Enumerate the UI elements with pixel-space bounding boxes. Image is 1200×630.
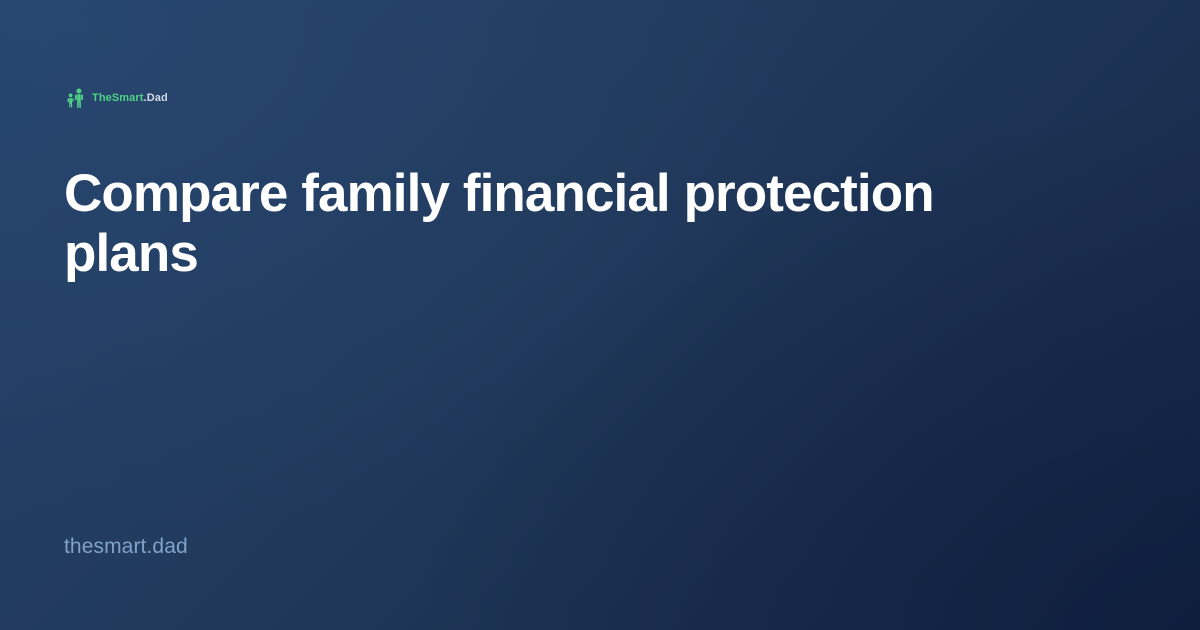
layout-spacer bbox=[64, 285, 1136, 536]
card-footer: thesmart.dad bbox=[64, 536, 1136, 558]
headline-container: Compare family financial protection plan… bbox=[64, 164, 1136, 285]
brand-name-primary: TheSmart bbox=[92, 93, 144, 104]
social-share-card: TheSmart.Dad Compare family financial pr… bbox=[0, 0, 1200, 630]
brand-name: TheSmart.Dad bbox=[92, 93, 168, 104]
brand-name-suffix: .Dad bbox=[144, 93, 168, 104]
site-domain: thesmart.dad bbox=[64, 535, 188, 558]
card-content: TheSmart.Dad Compare family financial pr… bbox=[0, 0, 1200, 630]
brand-lockup[interactable]: TheSmart.Dad bbox=[66, 86, 1136, 110]
parent-and-child-icon bbox=[66, 87, 86, 109]
page-title: Compare family financial protection plan… bbox=[64, 164, 1044, 285]
